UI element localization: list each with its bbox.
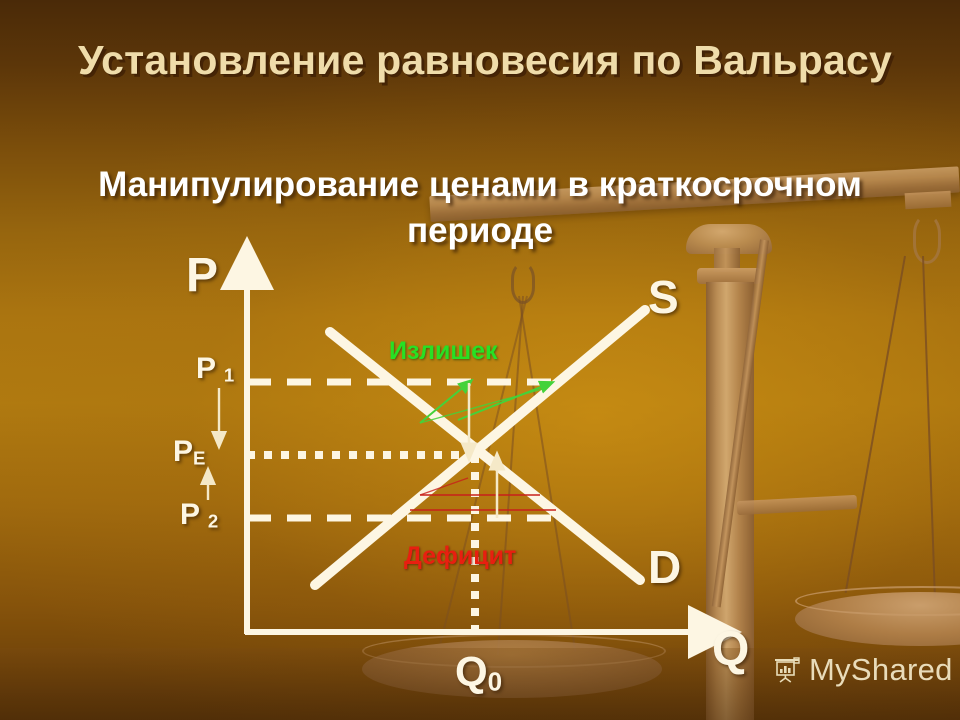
watermark: MyShared (772, 652, 953, 688)
pe-base: P (173, 435, 193, 468)
pe-subscript: E (193, 447, 205, 468)
surplus-annotation: Излишек (389, 337, 498, 366)
demand-curve-label: D (648, 540, 681, 594)
supply-curve-label: S (648, 270, 679, 324)
p1-base: P (196, 352, 215, 385)
pe-tick-label: PE (173, 435, 205, 469)
q0-tick-label: Q0 (455, 648, 502, 698)
q0-subscript: 0 (488, 667, 502, 697)
deficit-annotation: Дефицит (404, 542, 516, 571)
y-axis-label: P (186, 248, 218, 303)
p2-tick-label: P 2 (180, 498, 218, 532)
p2-subscript: 2 (208, 510, 218, 531)
q0-base: Q (455, 648, 488, 695)
p1-subscript: 1 (224, 364, 234, 385)
p1-tick-label: P 1 (196, 352, 234, 386)
watermark-text: MyShared (809, 652, 953, 688)
slide-canvas: Установление равновесия по Вальрасу Мани… (0, 0, 960, 720)
p2-base: P (180, 498, 199, 531)
x-axis-label: Q (712, 622, 749, 677)
presentation-chart-icon (772, 655, 802, 685)
